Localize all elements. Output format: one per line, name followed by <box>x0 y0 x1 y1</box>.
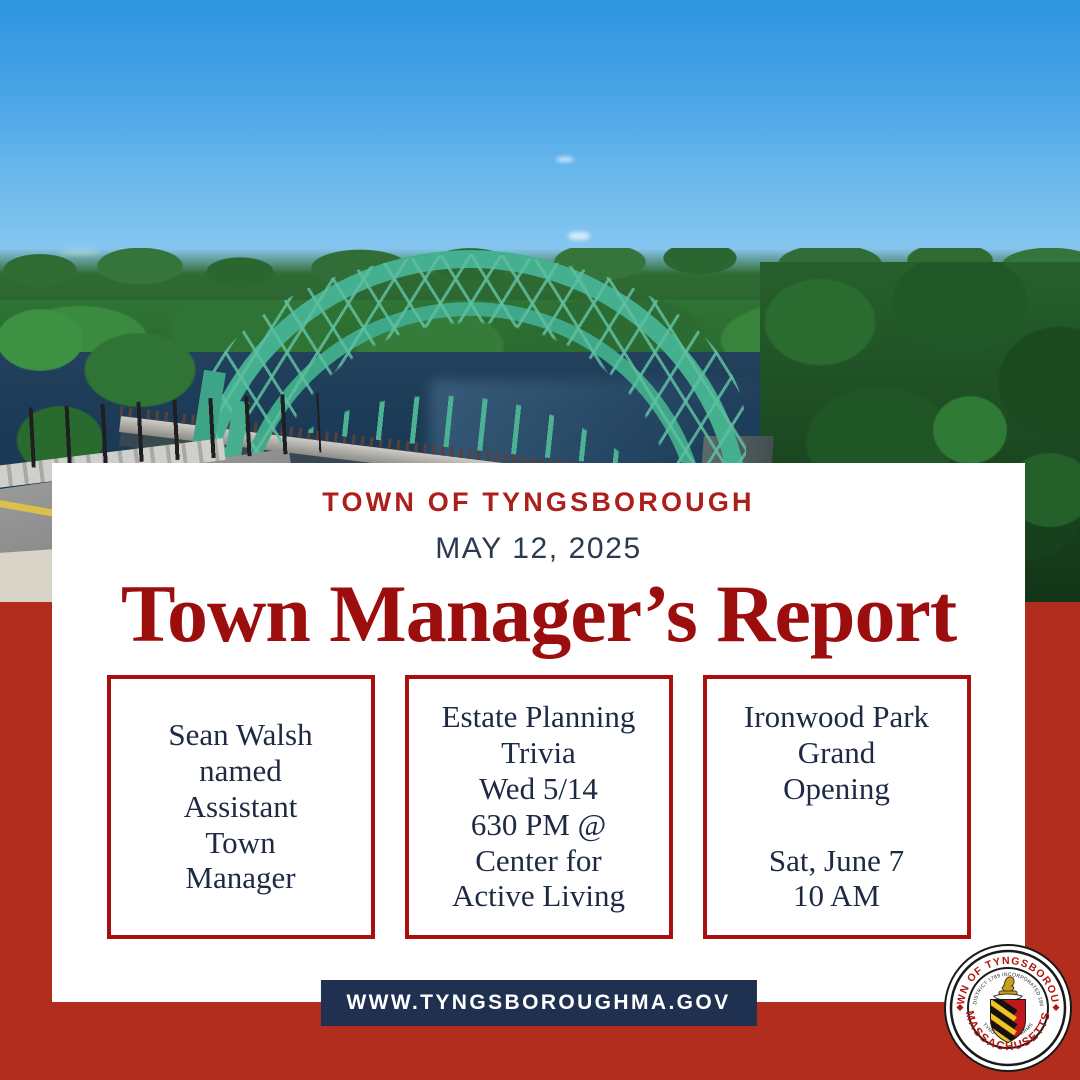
report-date: MAY 12, 2025 <box>52 532 1025 566</box>
sky <box>0 0 1080 270</box>
cloud <box>568 232 590 240</box>
page-title: Town Manager’s Report <box>52 570 1025 659</box>
town-manager-report-poster: TOWN OF TYNGSBOROUGH MAY 12, 2025 Town M… <box>0 0 1080 1080</box>
highlight-box[interactable]: Sean Walsh named Assistant Town Manager <box>107 675 375 939</box>
highlight-box[interactable]: Estate Planning Trivia Wed 5/14 630 PM @… <box>405 675 673 939</box>
organization-name: TOWN OF TYNGSBOROUGH <box>52 487 1025 518</box>
town-seal: TOWN OF TYNGSBOROUGH MASSACHUSETTS A DIS… <box>944 944 1072 1072</box>
highlight-boxes: Sean Walsh named Assistant Town Manager … <box>52 675 1025 939</box>
cloud <box>556 157 574 162</box>
highlight-box-text: Estate Planning Trivia Wed 5/14 630 PM @… <box>442 699 636 915</box>
highlight-box-text: Ironwood Park Grand Opening Sat, June 7 … <box>744 699 929 915</box>
website-url-banner[interactable]: WWW.TYNGSBOROUGHMA.GOV <box>320 980 756 1026</box>
highlight-box-text: Sean Walsh named Assistant Town Manager <box>168 717 312 897</box>
highlight-box[interactable]: Ironwood Park Grand Opening Sat, June 7 … <box>703 675 971 939</box>
content-card: TOWN OF TYNGSBOROUGH MAY 12, 2025 Town M… <box>52 463 1025 1002</box>
